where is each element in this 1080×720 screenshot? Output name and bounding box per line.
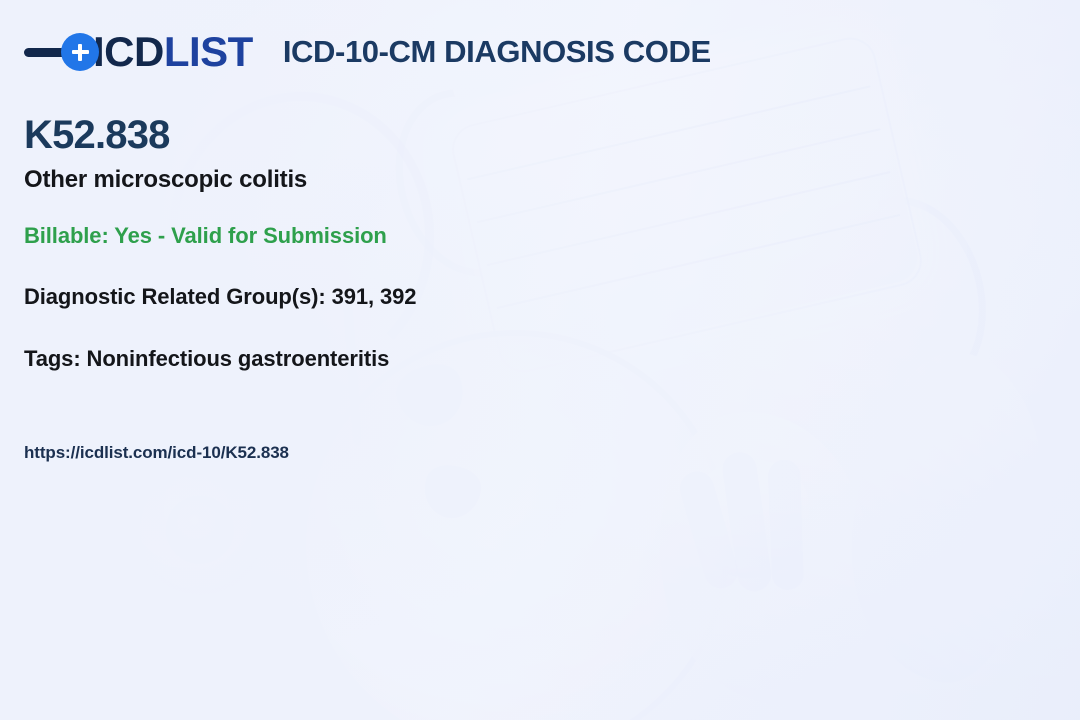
logo-text-list: LIST — [164, 28, 253, 76]
plus-circle-icon — [61, 33, 99, 71]
page-title: ICD-10-CM DIAGNOSIS CODE — [283, 34, 711, 70]
heart-highlight-icon — [684, 454, 816, 584]
heart-blob-c — [184, 489, 229, 532]
plate-shape — [300, 330, 730, 720]
icd-code-card: ICD LIST ICD-10-CM DIAGNOSIS CODE K52.83… — [0, 0, 1080, 720]
diagnosis-code: K52.838 — [24, 113, 170, 158]
heart-blob-a — [390, 357, 471, 434]
source-url[interactable]: https://icdlist.com/icd-10/K52.838 — [24, 443, 289, 463]
tags-line: Tags: Noninfectious gastroenteritis — [24, 346, 389, 372]
hand-shape-left — [631, 391, 899, 720]
billable-status: Billable: Yes - Valid for Submission — [24, 223, 387, 249]
stethoscope-chestpiece-icon — [140, 470, 260, 590]
surgical-mask-outline — [447, 32, 927, 377]
stethoscope-diaphragm — [166, 496, 234, 564]
hand-shape-right — [837, 343, 1056, 691]
finger-shape-1 — [676, 468, 742, 593]
page-header: ICD LIST ICD-10-CM DIAGNOSIS CODE — [24, 28, 711, 76]
logo-text-icd: ICD — [93, 28, 164, 76]
heart-blob-b — [419, 461, 485, 524]
surgical-mask-icon — [447, 33, 922, 373]
finger-shape-2 — [720, 450, 773, 593]
mask-ear-loop-left-icon — [375, 72, 562, 293]
finger-shape-3 — [768, 459, 805, 590]
diagnostic-related-groups: Diagnostic Related Group(s): 391, 392 — [24, 284, 416, 310]
diagnosis-description: Other microscopic colitis — [24, 166, 307, 194]
mask-ear-loop-right-icon — [816, 181, 1006, 410]
icdlist-logo[interactable]: ICD LIST — [24, 28, 253, 76]
